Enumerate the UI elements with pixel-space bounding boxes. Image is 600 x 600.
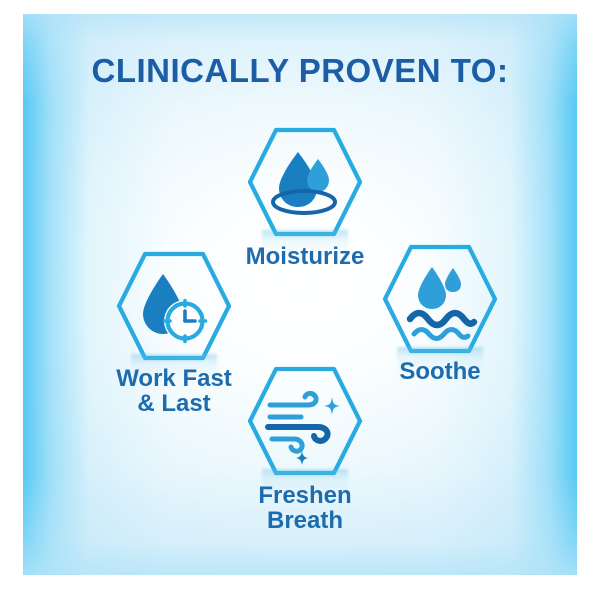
droplets-waves-icon bbox=[410, 267, 474, 339]
badge-work-fast-last[interactable]: Work Fast & Last bbox=[115, 250, 233, 362]
badge-soothe[interactable]: Soothe bbox=[381, 243, 499, 355]
hexagon-frame-freshen-breath bbox=[246, 365, 364, 477]
badge-freshen-breath[interactable]: Freshen Breath bbox=[246, 365, 364, 477]
hexagon-frame-soothe bbox=[381, 243, 499, 355]
badge-moisturize[interactable]: Moisturize bbox=[246, 126, 364, 238]
water-droplet-ripple-icon bbox=[273, 152, 335, 213]
badge-label-freshen-breath: Freshen Breath bbox=[190, 483, 420, 533]
droplet-clock-icon bbox=[143, 274, 206, 342]
promo-graphic: CLINICALLY PROVEN TO: Moisturize bbox=[0, 0, 600, 600]
wind-sparkle-icon bbox=[268, 393, 340, 465]
hexagon-frame-work-fast-last bbox=[115, 250, 233, 362]
hexagon-frame-moisturize bbox=[246, 126, 364, 238]
page-title: CLINICALLY PROVEN TO: bbox=[0, 52, 600, 90]
